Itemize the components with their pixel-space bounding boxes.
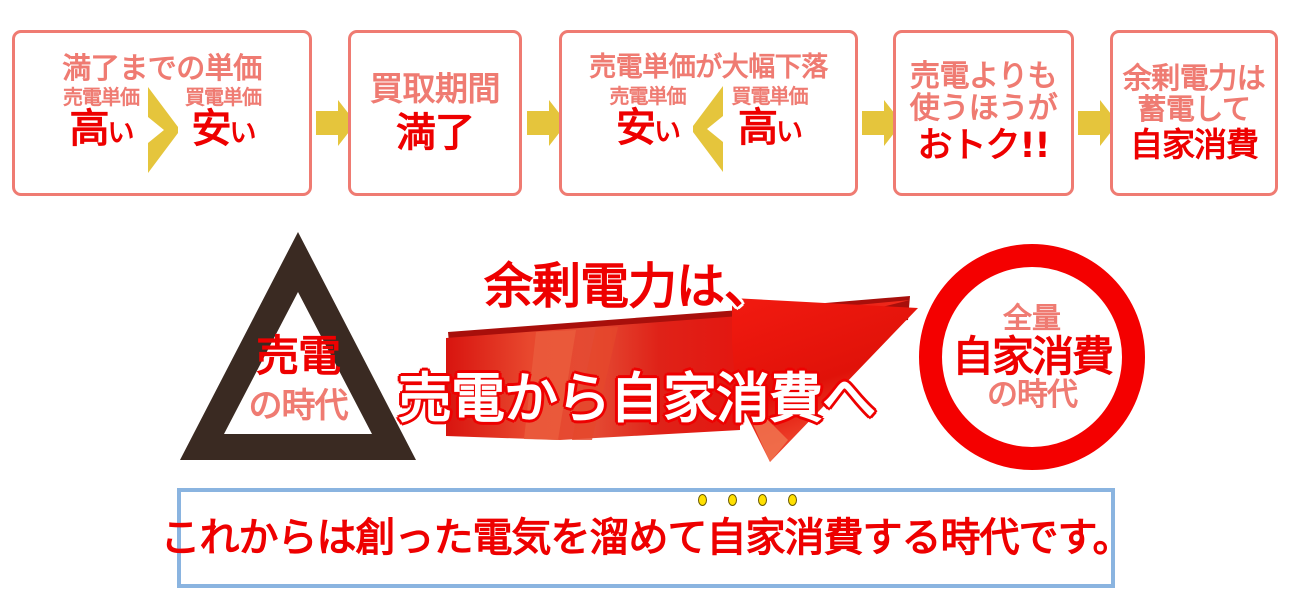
flow-step-4-heading-line1: 売電よりも xyxy=(910,61,1057,93)
emphasis-dot xyxy=(728,494,737,506)
flow-step-5-heading-line2: 蓄電して xyxy=(1137,94,1250,124)
sell-power-era-triangle[interactable]: 売電 の時代 xyxy=(176,226,420,466)
headline-sell-to-selfconsume: 売電から自家消費へ xyxy=(398,372,875,426)
flow-step-1-heading: 満了までの単価 xyxy=(62,53,262,83)
emphasis-dot xyxy=(698,494,707,506)
infographic-canvas: 満了までの単価 売電単価 高い 買電単価 安い xyxy=(0,0,1290,612)
summary-banner-content: これからは創った電気を溜めて自家消費する時代です。 xyxy=(161,518,1132,558)
flow-step-4-value: おトク!! xyxy=(918,128,1050,165)
circle-label-line1: 全量 xyxy=(1003,304,1061,333)
flow-step-3-left-value: 安い xyxy=(616,108,679,148)
flow-diagram-row: 満了までの単価 売電単価 高い 買電単価 安い xyxy=(0,18,1290,208)
flow-step-4[interactable]: 売電よりも 使うほうが おトク!! xyxy=(893,30,1074,196)
flow-step-2-heading: 買取期間 xyxy=(370,72,500,107)
greater-than-chevron-icon xyxy=(139,87,185,173)
flow-step-3-right: 買電単価 高い xyxy=(732,86,808,148)
flow-step-1-comparison: 売電単価 高い 買電単価 安い xyxy=(15,87,309,173)
summary-banner-text: これからは創った電気を溜めて自家消費する時代です。 xyxy=(161,518,1132,558)
flow-step-1-right: 買電単価 安い xyxy=(185,87,261,149)
emphasis-dot xyxy=(788,494,797,506)
flow-step-5-value: 自家消費 xyxy=(1130,128,1258,163)
self-consumption-era-circle[interactable]: 全量 自家消費 の時代 xyxy=(919,244,1145,470)
summary-banner: これからは創った電気を溜めて自家消費する時代です。 xyxy=(177,488,1115,588)
circle-labels: 全量 自家消費 の時代 xyxy=(919,244,1145,470)
flow-step-1-left-value: 高い xyxy=(70,109,133,149)
headline-surplus-power: 余剰電力は、 xyxy=(484,262,772,311)
flow-step-3[interactable]: 売電単価が大幅下落 売電単価 安い 買電単価 高い xyxy=(559,30,858,196)
flow-step-1[interactable]: 満了までの単価 売電単価 高い 買電単価 安い xyxy=(12,30,312,196)
flow-step-1-right-label: 買電単価 xyxy=(185,87,261,107)
flow-step-3-left: 売電単価 安い xyxy=(610,86,686,148)
flow-step-2[interactable]: 買取期間 満了 xyxy=(348,30,522,196)
flow-step-3-right-value: 高い xyxy=(738,108,801,148)
circle-label-line3: の時代 xyxy=(987,380,1077,411)
triangle-label-top: 売電 xyxy=(176,336,420,379)
circle-label-line2: 自家消費 xyxy=(952,336,1112,378)
flow-step-4-heading-line2: 使うほうが xyxy=(910,93,1058,125)
less-than-chevron-icon xyxy=(686,86,732,172)
flow-step-3-heading: 売電単価が大幅下落 xyxy=(589,54,828,82)
flow-step-2-value: 満了 xyxy=(396,112,474,154)
flow-step-1-right-value: 安い xyxy=(192,109,255,149)
flow-step-5[interactable]: 余剰電力は 蓄電して 自家消費 xyxy=(1110,30,1278,196)
triangle-label-bottom: の時代 xyxy=(176,389,420,423)
flow-step-3-comparison: 売電単価 安い 買電単価 高い xyxy=(562,86,855,172)
flow-step-1-left: 売電単価 高い xyxy=(63,87,139,149)
emphasis-dots xyxy=(698,494,797,506)
emphasis-dot xyxy=(758,494,767,506)
flow-step-3-right-label: 買電単価 xyxy=(732,86,808,106)
flow-step-3-left-label: 売電単価 xyxy=(610,86,686,106)
flow-step-1-left-label: 売電単価 xyxy=(63,87,139,107)
flow-step-5-heading-line1: 余剰電力は xyxy=(1123,63,1266,93)
